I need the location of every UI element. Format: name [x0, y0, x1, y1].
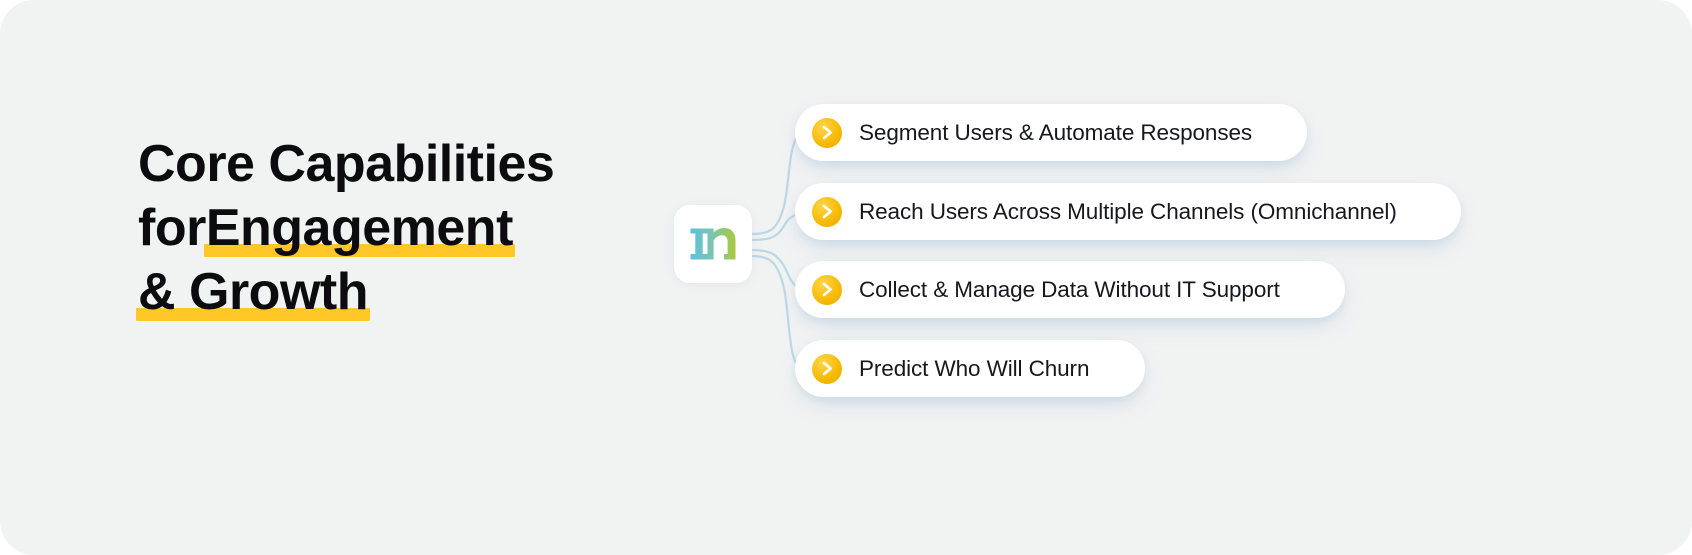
chevron-right-icon [812, 118, 842, 148]
capability-label: Segment Users & Automate Responses [859, 120, 1252, 146]
chevron-right-icon [812, 275, 842, 305]
capability-label: Predict Who Will Churn [859, 356, 1089, 382]
connector-line-1 [752, 133, 800, 234]
brand-logo-card [674, 205, 752, 283]
heading-line-3: & Growth [138, 260, 658, 324]
heading-line-1: Core Capabilities [138, 132, 658, 196]
chevron-right-icon [812, 354, 842, 384]
connector-line-2 [752, 212, 800, 240]
capability-item-1[interactable]: Segment Users & Automate Responses [795, 104, 1307, 161]
capability-label: Collect & Manage Data Without IT Support [859, 277, 1280, 303]
heading-text-plain: Core Capabilities [138, 132, 554, 196]
netcore-n-logo-icon [689, 222, 737, 266]
capability-item-3[interactable]: Collect & Manage Data Without IT Support [795, 261, 1345, 318]
chevron-right-icon [812, 197, 842, 227]
page-title: Core Capabilities for Engagement & Growt… [138, 132, 658, 324]
connector-line-4 [752, 256, 800, 369]
heading-line-2: for Engagement [138, 196, 658, 260]
heading-highlight-engagement: Engagement [206, 196, 513, 260]
capability-item-4[interactable]: Predict Who Will Churn [795, 340, 1145, 397]
heading-highlight-growth: & Growth [138, 260, 368, 324]
capabilities-diagram: Segment Users & Automate Responses Reach… [660, 78, 1490, 408]
connector-line-3 [752, 250, 800, 290]
heading-text-for: for [138, 196, 206, 260]
capability-label: Reach Users Across Multiple Channels (Om… [859, 199, 1397, 225]
infographic-canvas: Core Capabilities for Engagement & Growt… [0, 0, 1692, 555]
capability-item-2[interactable]: Reach Users Across Multiple Channels (Om… [795, 183, 1461, 240]
